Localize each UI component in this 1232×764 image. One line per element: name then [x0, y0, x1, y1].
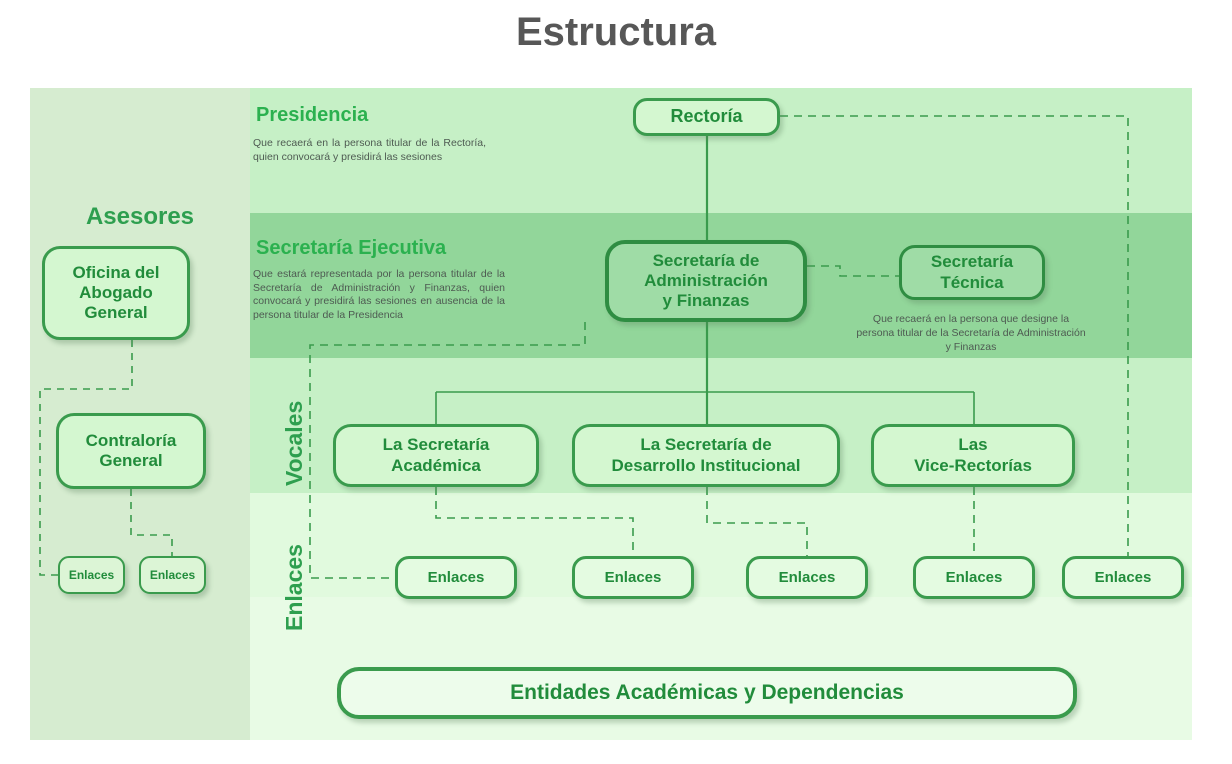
section-title-vocales: Vocales — [281, 401, 308, 486]
node-enlaces-1[interactable]: Enlaces — [395, 556, 517, 599]
node-enlaces-4[interactable]: Enlaces — [913, 556, 1035, 599]
node-secretaria-tecnica[interactable]: SecretaríaTécnica — [899, 245, 1045, 300]
node-enlaces-3[interactable]: Enlaces — [746, 556, 868, 599]
node-secretaria-academica[interactable]: La SecretaríaAcadémica — [333, 424, 539, 487]
section-desc-secretaria-ejecutiva: Que estará representada por la persona t… — [253, 268, 505, 322]
section-desc-presidencia: Que recaerá en la persona titular de la … — [253, 137, 486, 164]
section-title-asesores: Asesores — [30, 203, 250, 231]
section-title-secretaria-ejecutiva: Secretaría Ejecutiva — [256, 237, 446, 260]
node-secretaria-desarrollo-institucional[interactable]: La Secretaría deDesarrollo Institucional — [572, 424, 840, 487]
node-oficina-abogado-general[interactable]: Oficina delAbogadoGeneral — [42, 246, 190, 340]
node-entidades-academicas-dependencias[interactable]: Entidades Académicas y Dependencias — [337, 667, 1077, 719]
band-enlaces — [250, 493, 1192, 597]
node-rectoria[interactable]: Rectoría — [633, 98, 780, 136]
node-vice-rectorias[interactable]: LasVice-Rectorías — [871, 424, 1075, 487]
node-enlaces-2[interactable]: Enlaces — [572, 556, 694, 599]
node-enlaces-5[interactable]: Enlaces — [1062, 556, 1184, 599]
node-enlaces-asesores-2[interactable]: Enlaces — [139, 556, 206, 594]
section-title-enlaces: Enlaces — [281, 544, 308, 631]
section-title-presidencia: Presidencia — [256, 104, 368, 127]
note-secretaria-tecnica: Que recaerá en la persona que designe la… — [855, 312, 1087, 354]
node-contraloria-general[interactable]: ContraloríaGeneral — [56, 413, 206, 489]
org-chart: Presidencia Que recaerá en la persona ti… — [0, 0, 1232, 764]
node-enlaces-asesores-1[interactable]: Enlaces — [58, 556, 125, 594]
node-secretaria-administracion-finanzas[interactable]: Secretaría deAdministracióny Finanzas — [605, 240, 807, 322]
